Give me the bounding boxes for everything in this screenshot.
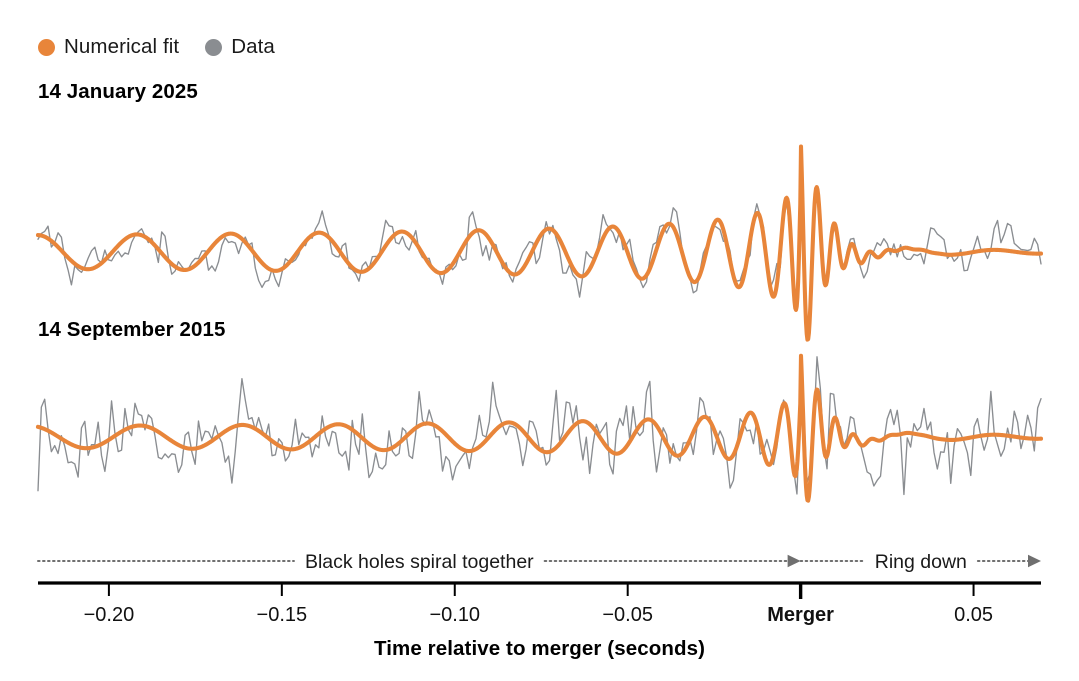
x-axis: −0.20−0.15−0.10−0.05Merger0.05 [0, 578, 1079, 628]
axis-tick-label: −0.20 [84, 604, 135, 626]
axis-tick-label: −0.15 [257, 604, 308, 626]
panel-title-2015: 14 September 2015 [38, 318, 225, 342]
phase-annotation-row: Black holes spiral togetherRing down [0, 548, 1079, 574]
data-trace-2015 [38, 357, 1041, 495]
axis-tick-label: −0.10 [429, 604, 480, 626]
legend: Numerical fitData [38, 32, 275, 62]
gravitational-wave-figure: Numerical fitData 14 January 2025 14 Sep… [0, 0, 1079, 681]
legend-label: Numerical fit [64, 35, 179, 59]
legend-item-numerical-fit: Numerical fit [38, 35, 179, 59]
phase-spiral-arrow-icon [788, 555, 801, 567]
legend-swatch-data-icon [205, 39, 222, 56]
phase-spiral-label: Black holes spiral together [305, 551, 534, 573]
numerical-fit-trace-2025 [38, 147, 1041, 340]
waveform-plot-2025 [0, 104, 1079, 300]
waveform-panel-2015 [0, 342, 1079, 548]
x-axis-svg: −0.20−0.15−0.10−0.05Merger0.05 [0, 578, 1079, 628]
legend-label: Data [231, 35, 275, 59]
legend-swatch-numerical-fit-icon [38, 39, 55, 56]
legend-item-data: Data [205, 35, 275, 59]
numerical-fit-trace-2015 [38, 356, 1041, 501]
waveform-panel-2025 [0, 104, 1079, 300]
phase-ringdown-arrow-icon [1028, 555, 1041, 567]
axis-tick-label: 0.05 [954, 604, 993, 626]
axis-tick-label-merger: Merger [767, 604, 834, 626]
waveform-plot-2015 [0, 342, 1079, 548]
data-trace-2025 [38, 190, 1041, 327]
x-axis-title: Time relative to merger (seconds) [0, 637, 1079, 661]
phase-annotation-svg: Black holes spiral togetherRing down [0, 548, 1079, 574]
axis-tick-label: −0.05 [602, 604, 653, 626]
phase-ringdown-label: Ring down [875, 551, 967, 573]
panel-title-2025: 14 January 2025 [38, 80, 198, 104]
